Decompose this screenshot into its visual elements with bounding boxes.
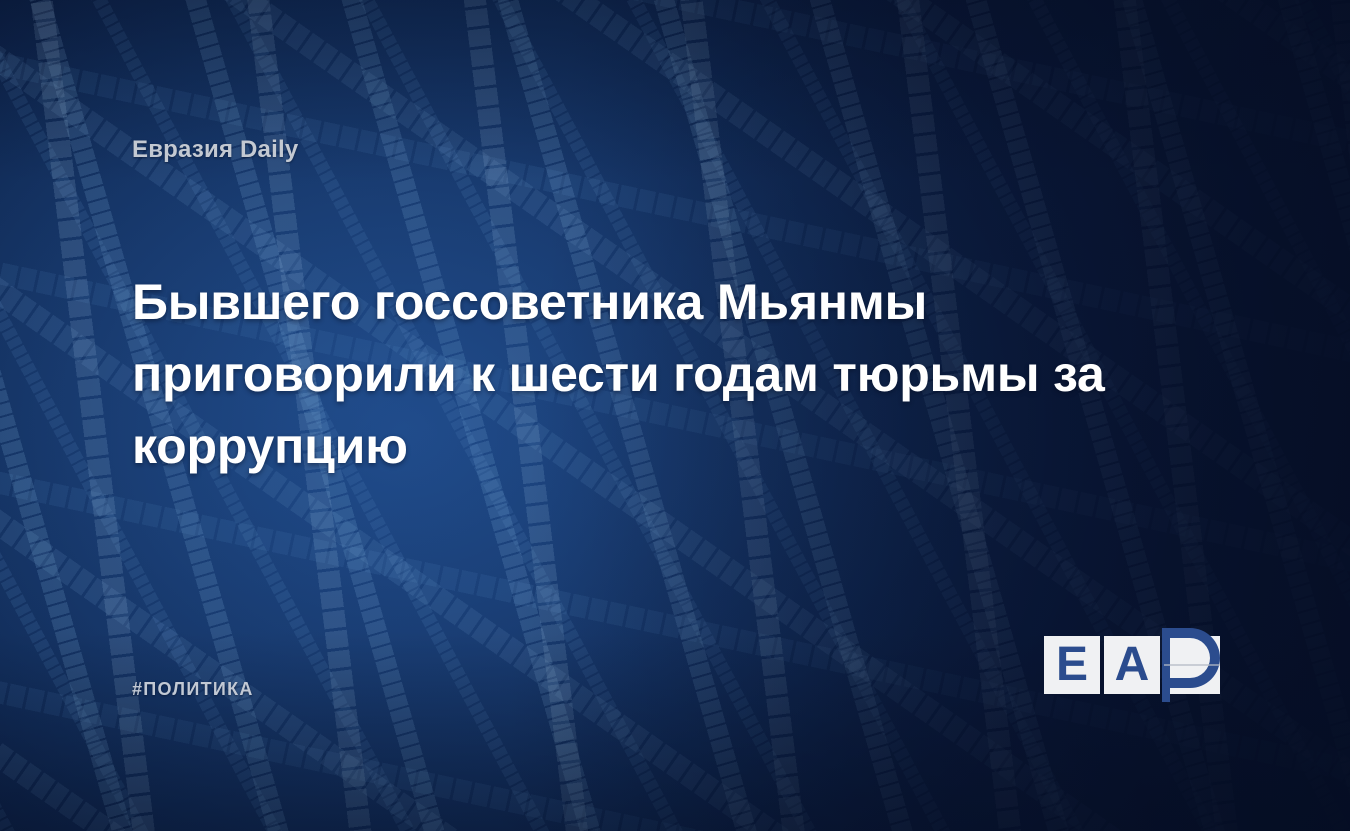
card-content: Евразия Daily Бывшего госсоветника Мьянм…	[0, 0, 1350, 831]
category-tag[interactable]: #ПОЛИТИКА	[132, 679, 254, 700]
logo-tile-seam	[1164, 664, 1220, 666]
site-brand-name: Евразия Daily	[132, 136, 298, 164]
eadaily-logo[interactable]: E A	[1044, 636, 1220, 694]
page-title: Бывшего госсоветника Мьянмы приговорили …	[132, 266, 1152, 482]
news-share-card: Евразия Daily Бывшего госсоветника Мьянм…	[0, 0, 1350, 831]
logo-tile-e: E	[1044, 636, 1100, 694]
letter-e-icon: E	[1044, 636, 1100, 694]
logo-tile-d	[1164, 636, 1220, 694]
